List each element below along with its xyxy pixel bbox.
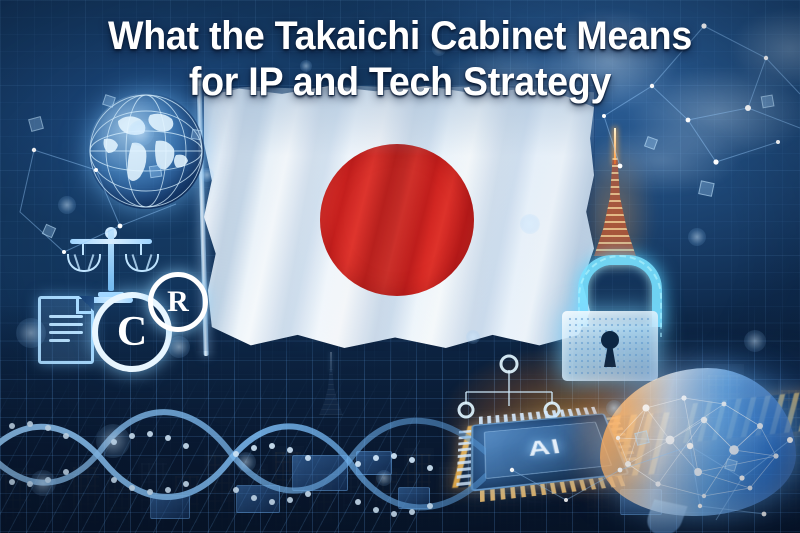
dna-helix: [0, 398, 486, 533]
tokyo-tower: [592, 128, 638, 256]
title-line-2: for IP and Tech Strategy: [24, 62, 776, 103]
registered-glyph: R: [167, 287, 189, 317]
registered-trademark-icon: R: [148, 272, 208, 332]
banner-root: C R: [0, 0, 800, 533]
document-text-lines: [49, 315, 83, 347]
globe-icon: [88, 93, 204, 209]
japanese-flag: [196, 86, 596, 351]
copyright-glyph: C: [117, 311, 147, 353]
scales-of-justice-icon: [68, 225, 154, 303]
digital-brain: [600, 368, 796, 516]
document-icon: [38, 296, 94, 364]
title-line-1: What the Takaichi Cabinet Means: [24, 16, 776, 57]
page-title: What the Takaichi Cabinet Means for IP a…: [0, 16, 800, 103]
